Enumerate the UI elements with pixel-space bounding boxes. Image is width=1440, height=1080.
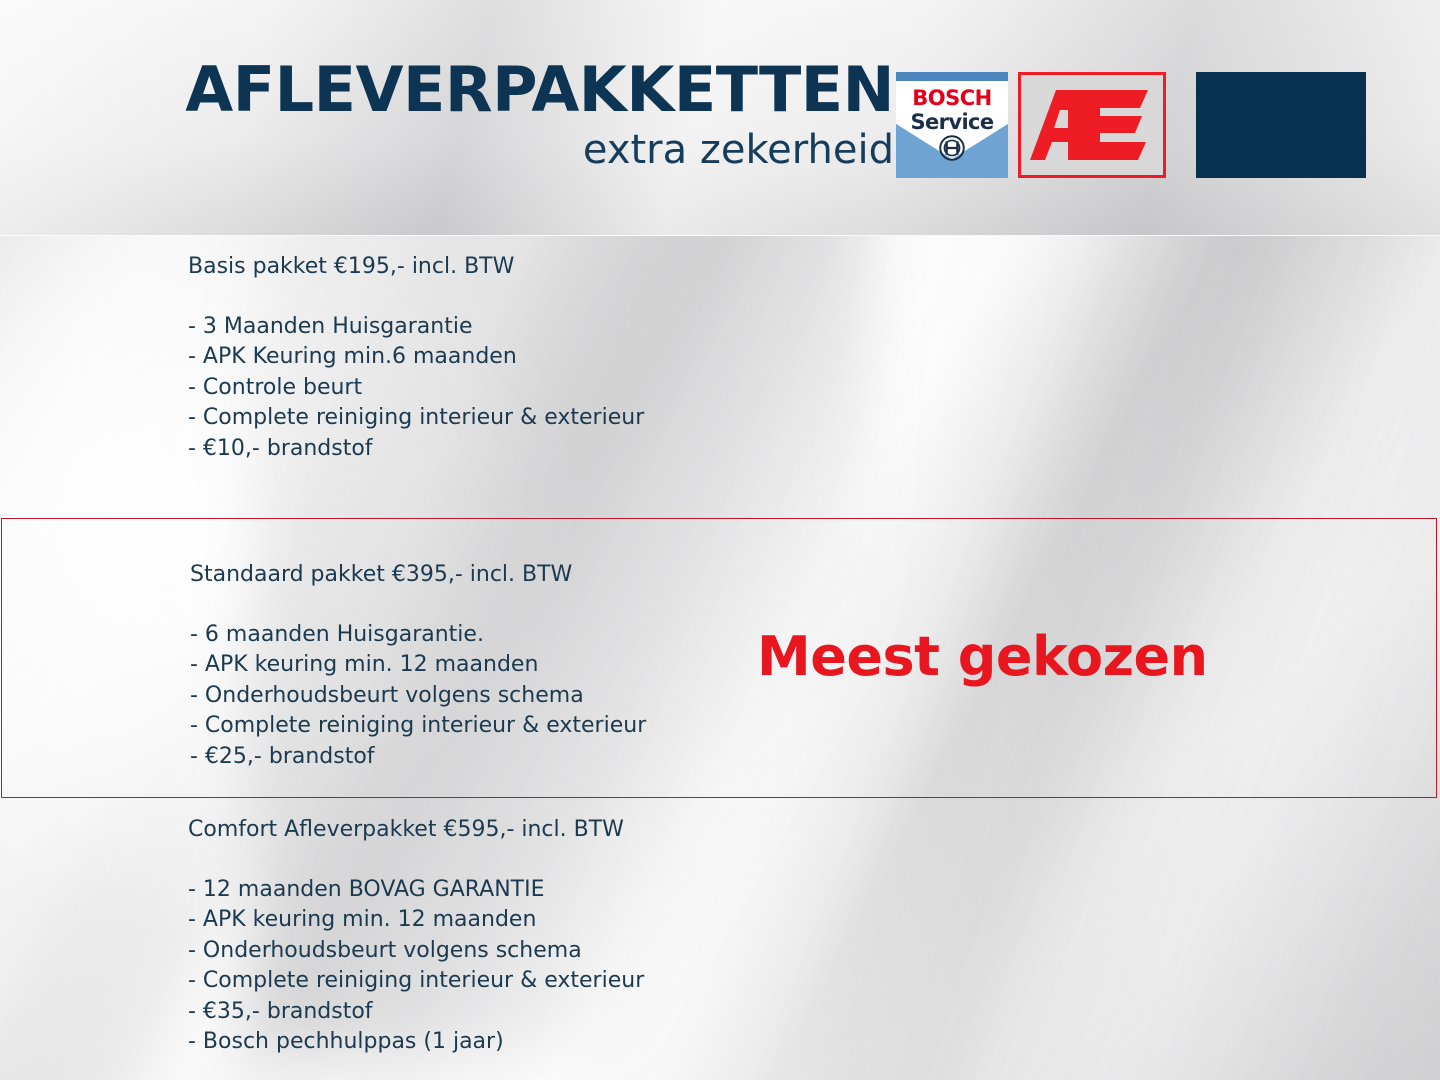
package-comfort: Comfort Afleverpakket €595,- incl. BTW -… bbox=[188, 815, 644, 1057]
title-block: AFLEVERPAKKETTEN extra zekerheid bbox=[124, 58, 894, 174]
list-item: - €25,- brandstof bbox=[190, 742, 646, 772]
list-item: - Complete reiniging interieur & exterie… bbox=[190, 711, 646, 741]
bosch-armature-icon bbox=[938, 134, 966, 162]
package-basis: Basis pakket €195,- incl. BTW - 3 Maande… bbox=[188, 252, 644, 464]
ae-logo bbox=[1018, 72, 1166, 178]
bosch-service-logo: BOSCH Service bbox=[896, 72, 1008, 178]
list-item: - APK keuring min. 12 maanden bbox=[188, 905, 644, 935]
logo-row: BOSCH Service bbox=[896, 72, 1366, 178]
ae-letters-icon bbox=[1030, 86, 1154, 164]
most-chosen-badge: Meest gekozen bbox=[757, 626, 1208, 688]
list-item: - 3 Maanden Huisgarantie bbox=[188, 312, 644, 342]
list-item: - Controle beurt bbox=[188, 373, 644, 403]
package-basis-list: - 3 Maanden Huisgarantie - APK Keuring m… bbox=[188, 312, 644, 464]
package-standaard-list: - 6 maanden Huisgarantie. - APK keuring … bbox=[190, 620, 646, 772]
navy-block-logo bbox=[1196, 72, 1366, 178]
list-item: - APK Keuring min.6 maanden bbox=[188, 342, 644, 372]
package-basis-title: Basis pakket €195,- incl. BTW bbox=[188, 252, 644, 282]
header: AFLEVERPAKKETTEN extra zekerheid BOSCH S… bbox=[0, 0, 1440, 236]
list-item: - 6 maanden Huisgarantie. bbox=[190, 620, 646, 650]
page-title: AFLEVERPAKKETTEN bbox=[124, 58, 894, 122]
bosch-top-strip bbox=[896, 72, 1008, 81]
package-standaard: Standaard pakket €395,- incl. BTW - 6 ma… bbox=[190, 560, 646, 772]
list-item: - APK keuring min. 12 maanden bbox=[190, 650, 646, 680]
list-item: - Complete reiniging interieur & exterie… bbox=[188, 403, 644, 433]
list-item: - Onderhoudsbeurt volgens schema bbox=[190, 681, 646, 711]
bosch-service-label: Service bbox=[896, 110, 1008, 134]
package-standaard-title: Standaard pakket €395,- incl. BTW bbox=[190, 560, 646, 590]
page-subtitle: extra zekerheid bbox=[124, 126, 894, 174]
list-item: - Complete reiniging interieur & exterie… bbox=[188, 966, 644, 996]
list-item: - Bosch pechhulppas (1 jaar) bbox=[188, 1027, 644, 1057]
list-item: - €10,- brandstof bbox=[188, 434, 644, 464]
bosch-wordmark: BOSCH bbox=[896, 86, 1008, 110]
package-comfort-list: - 12 maanden BOVAG GARANTIE - APK keurin… bbox=[188, 875, 644, 1057]
list-item: - €35,- brandstof bbox=[188, 997, 644, 1027]
slide-canvas: AFLEVERPAKKETTEN extra zekerheid BOSCH S… bbox=[0, 0, 1440, 1080]
package-comfort-title: Comfort Afleverpakket €595,- incl. BTW bbox=[188, 815, 644, 845]
list-item: - 12 maanden BOVAG GARANTIE bbox=[188, 875, 644, 905]
list-item: - Onderhoudsbeurt volgens schema bbox=[188, 936, 644, 966]
